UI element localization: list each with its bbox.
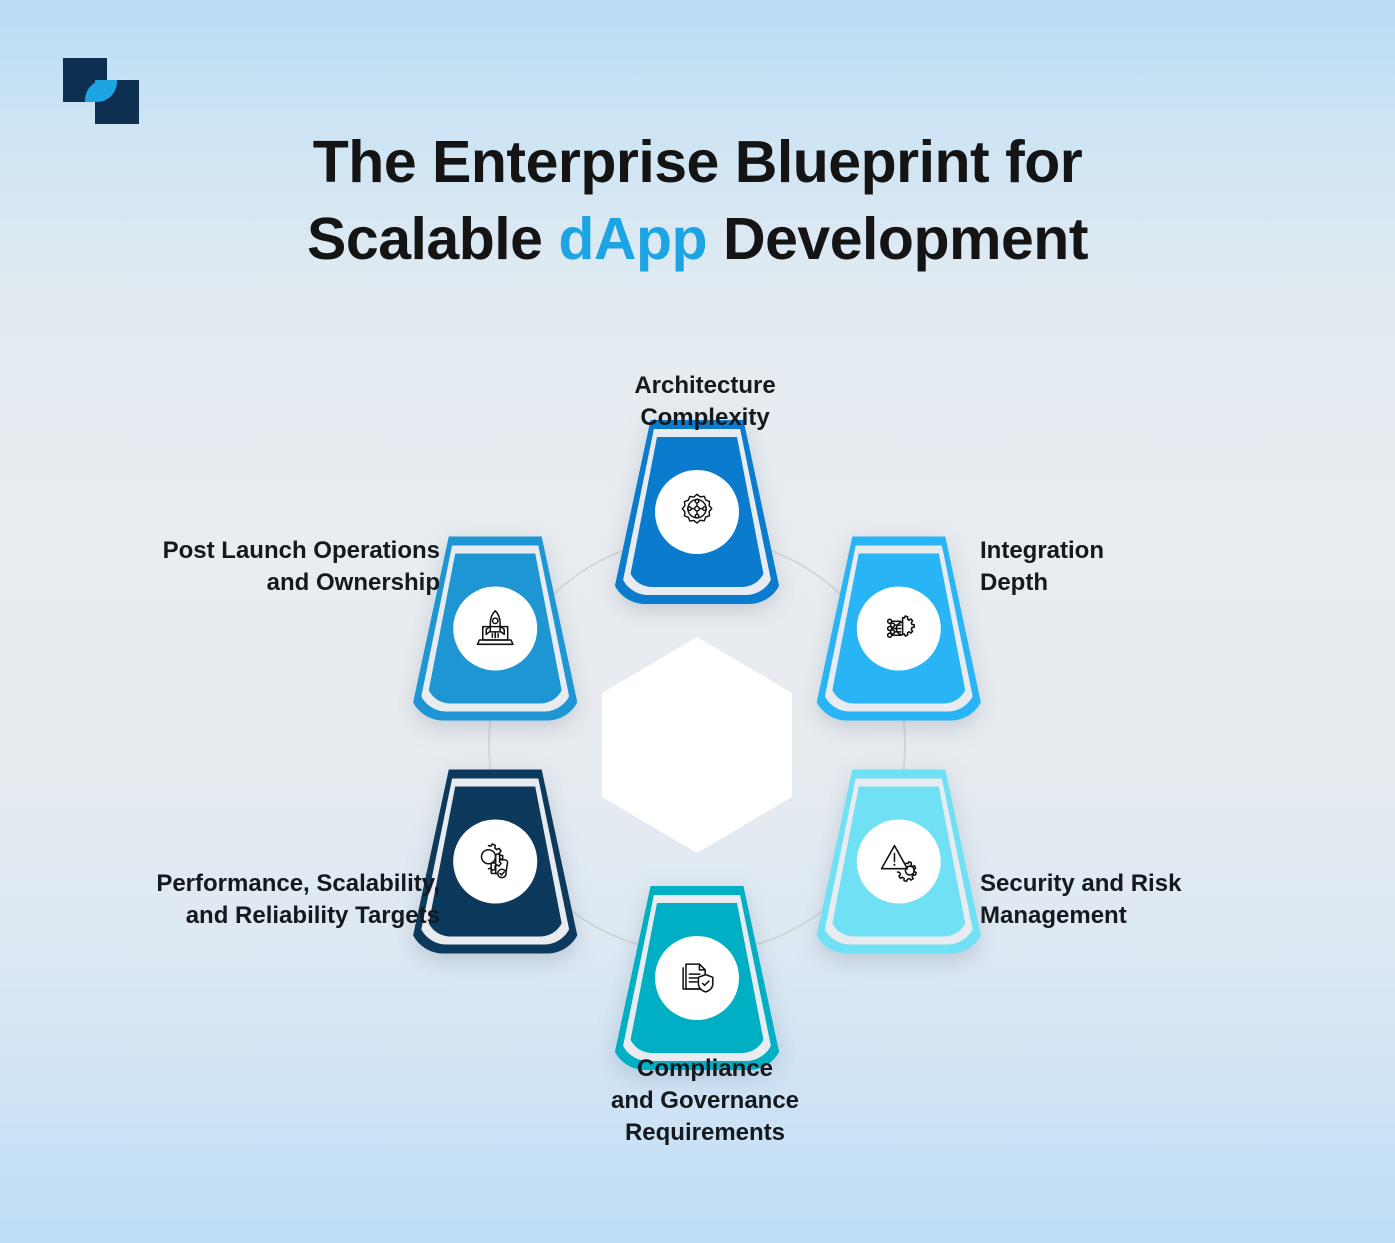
title-line-1: The Enterprise Blueprint for xyxy=(313,129,1082,195)
node-label-compliance-governance: Compliance and Governance Requirements xyxy=(510,1053,900,1149)
title-line-2-after: Development xyxy=(707,206,1088,272)
rocket-laptop-icon xyxy=(453,587,537,671)
gear-network-icon xyxy=(655,470,739,554)
node-label-integration-depth: Integration Depth xyxy=(980,535,1310,599)
node-label-security-risk-management: Security and Risk Management xyxy=(980,868,1310,932)
title-line-2-before: Scalable xyxy=(307,206,558,272)
document-shield-icon xyxy=(655,936,739,1020)
logo-square-bottom xyxy=(95,80,139,124)
warning-gear-icon xyxy=(857,820,941,904)
gear-thumbs-up-icon xyxy=(453,820,537,904)
circuit-gear-icon xyxy=(857,587,941,671)
page-title: The Enterprise Blueprint for Scalable dA… xyxy=(0,124,1395,278)
logo-quarter-circle-icon xyxy=(95,80,117,102)
node-label-post-launch-operations: Post Launch Operations and Ownership xyxy=(30,535,440,599)
hub-and-spoke-diagram: Architecture Complexity Integration Dept… xyxy=(0,330,1395,1200)
brand-logo xyxy=(63,58,139,124)
node-label-architecture-complexity: Architecture Complexity xyxy=(515,370,895,434)
node-label-performance-scalability: Performance, Scalability, and Reliabilit… xyxy=(40,868,440,932)
title-highlight-dapp: dApp xyxy=(558,206,707,272)
